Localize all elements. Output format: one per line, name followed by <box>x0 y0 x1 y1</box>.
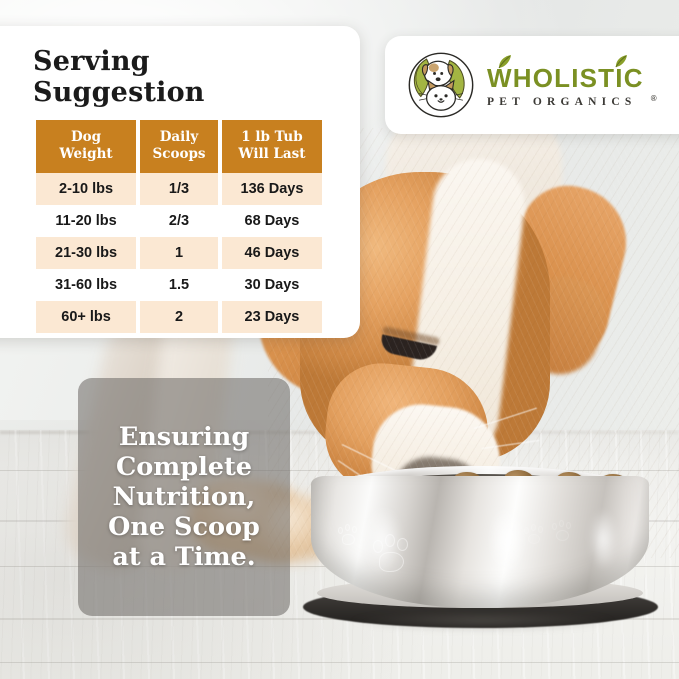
column-header-daily-scoops: Daily Scoops <box>140 120 218 173</box>
cell-tub-duration: 30 Days <box>222 269 322 301</box>
leaf-accent-icon <box>613 55 628 68</box>
paw-print-icon <box>551 520 577 546</box>
serving-table: Dog Weight Daily Scoops 1 lb Tub Will La… <box>32 120 326 333</box>
page-title: Serving Suggestion <box>33 46 326 108</box>
cell-dog-weight: 11-20 lbs <box>36 205 136 237</box>
cell-dog-weight: 2-10 lbs <box>36 173 136 205</box>
bowl-floor-shadow <box>297 606 669 636</box>
brand-tagline: PET ORGANICS ® <box>487 96 644 108</box>
column-header-tub-duration: 1 lb Tub Will Last <box>222 120 322 173</box>
header-line: Will Last <box>238 146 305 162</box>
cell-dog-weight: 31-60 lbs <box>36 269 136 301</box>
cell-daily-scoops: 2 <box>140 301 218 333</box>
cell-tub-duration: 23 Days <box>222 301 322 333</box>
registered-trademark-mark: ® <box>651 94 657 103</box>
cell-tub-duration: 46 Days <box>222 237 322 269</box>
leaf-accent-icon <box>496 55 512 69</box>
dog-cat-leaves-emblem-icon <box>405 49 477 121</box>
header-line: Dog <box>71 129 101 145</box>
bowl-highlight <box>583 496 623 582</box>
header-line: Daily <box>160 129 199 145</box>
paw-print-icon <box>523 524 547 548</box>
brand-name: WHOLISTIC <box>487 65 644 91</box>
cell-dog-weight: 60+ lbs <box>36 301 136 333</box>
brand-logo-card: WHOLISTIC PET ORGANICS ® <box>385 36 679 134</box>
cell-daily-scoops: 1.5 <box>140 269 218 301</box>
promo-image-canvas: Serving Suggestion Dog Weight Daily Scoo… <box>0 0 679 679</box>
table-row: 21-30 lbs 1 46 Days <box>36 237 322 269</box>
header-line: 1 lb Tub <box>241 129 302 145</box>
column-header-dog-weight: Dog Weight <box>36 120 136 173</box>
header-line: Weight <box>59 146 112 162</box>
cell-tub-duration: 136 Days <box>222 173 322 205</box>
tagline-text: Ensuring Complete Nutrition, One Scoop a… <box>100 422 268 572</box>
header-line: Scoops <box>152 146 205 162</box>
table-row: 31-60 lbs 1.5 30 Days <box>36 269 322 301</box>
cell-daily-scoops: 2/3 <box>140 205 218 237</box>
table-row: 11-20 lbs 2/3 68 Days <box>36 205 322 237</box>
cell-daily-scoops: 1 <box>140 237 218 269</box>
cell-tub-duration: 68 Days <box>222 205 322 237</box>
bowl-body <box>311 476 649 608</box>
paw-print-icon <box>371 534 417 580</box>
brand-wordmark: WHOLISTIC PET ORGANICS ® <box>487 63 644 108</box>
table-header-row: Dog Weight Daily Scoops 1 lb Tub Will La… <box>36 120 322 173</box>
serving-suggestion-card: Serving Suggestion Dog Weight Daily Scoo… <box>0 26 360 338</box>
stainless-steel-bowl <box>303 466 658 642</box>
table-row: 60+ lbs 2 23 Days <box>36 301 322 333</box>
tagline-overlay-panel: Ensuring Complete Nutrition, One Scoop a… <box>78 378 290 616</box>
cell-dog-weight: 21-30 lbs <box>36 237 136 269</box>
brand-tagline-text: PET ORGANICS <box>487 96 636 108</box>
cell-daily-scoops: 1/3 <box>140 173 218 205</box>
table-row: 2-10 lbs 1/3 136 Days <box>36 173 322 205</box>
paw-print-icon <box>337 524 363 550</box>
